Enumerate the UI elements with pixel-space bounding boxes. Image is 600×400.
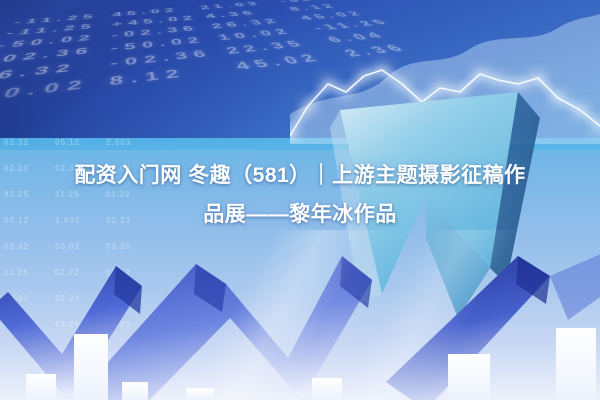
bar bbox=[74, 334, 108, 400]
bar bbox=[312, 378, 342, 400]
bar bbox=[26, 374, 56, 400]
banner-canvas: -50.02-02.36-11.2545.0221.03-50.02 2.36-… bbox=[0, 0, 600, 400]
white-bar-chart bbox=[0, 280, 600, 400]
banner-title: 配资入门网 冬趣（581）｜上游主题摄影征稿作 品展——黎年冰作品 bbox=[0, 156, 600, 234]
bar bbox=[448, 354, 490, 400]
page-title-line-2: 品展——黎年冰作品 bbox=[0, 195, 600, 234]
bar bbox=[186, 388, 214, 400]
bar bbox=[556, 328, 596, 400]
page-title-line-1: 配资入门网 冬趣（581）｜上游主题摄影征稿作 bbox=[0, 156, 600, 195]
bar bbox=[122, 382, 148, 400]
